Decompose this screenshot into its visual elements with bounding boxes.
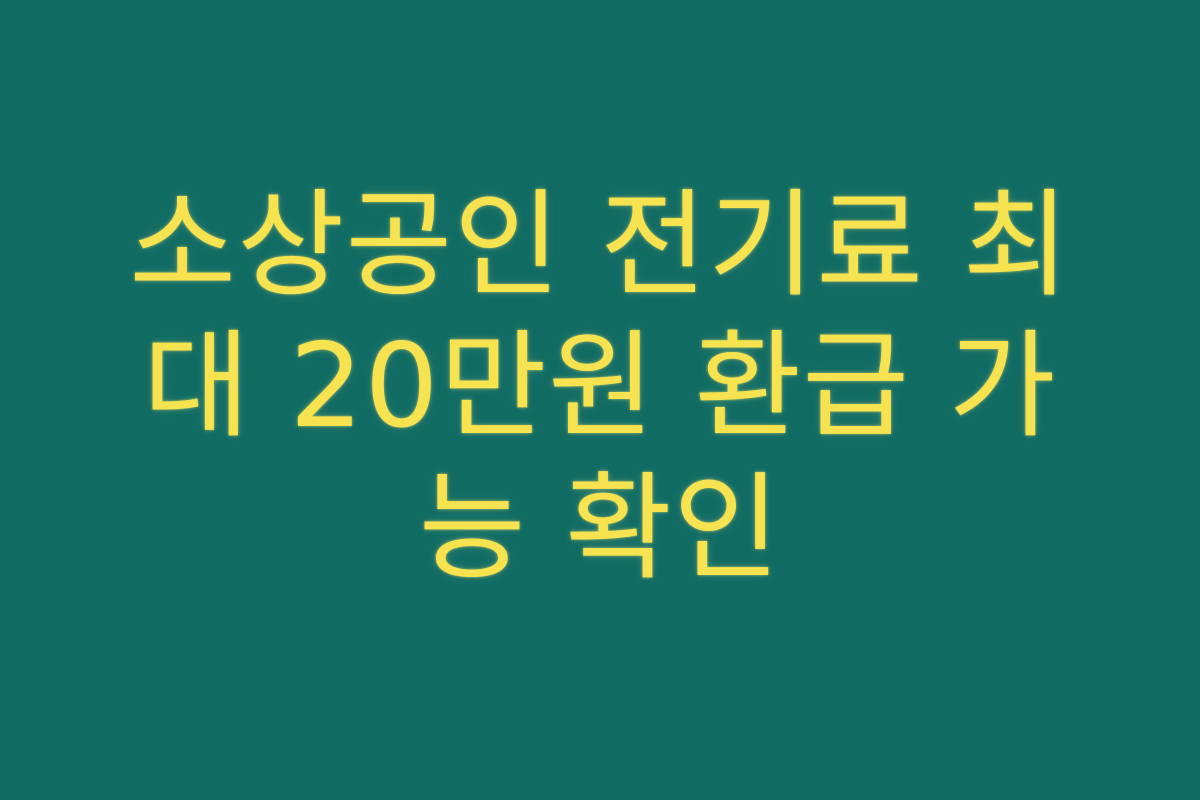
headline-text: 소상공인 전기료 최대 20만원 환급 가능 확인 [95,175,1105,600]
banner-canvas: 소상공인 전기료 최대 20만원 환급 가능 확인 [0,0,1200,800]
headline-block: 소상공인 전기료 최대 20만원 환급 가능 확인 [95,175,1105,600]
